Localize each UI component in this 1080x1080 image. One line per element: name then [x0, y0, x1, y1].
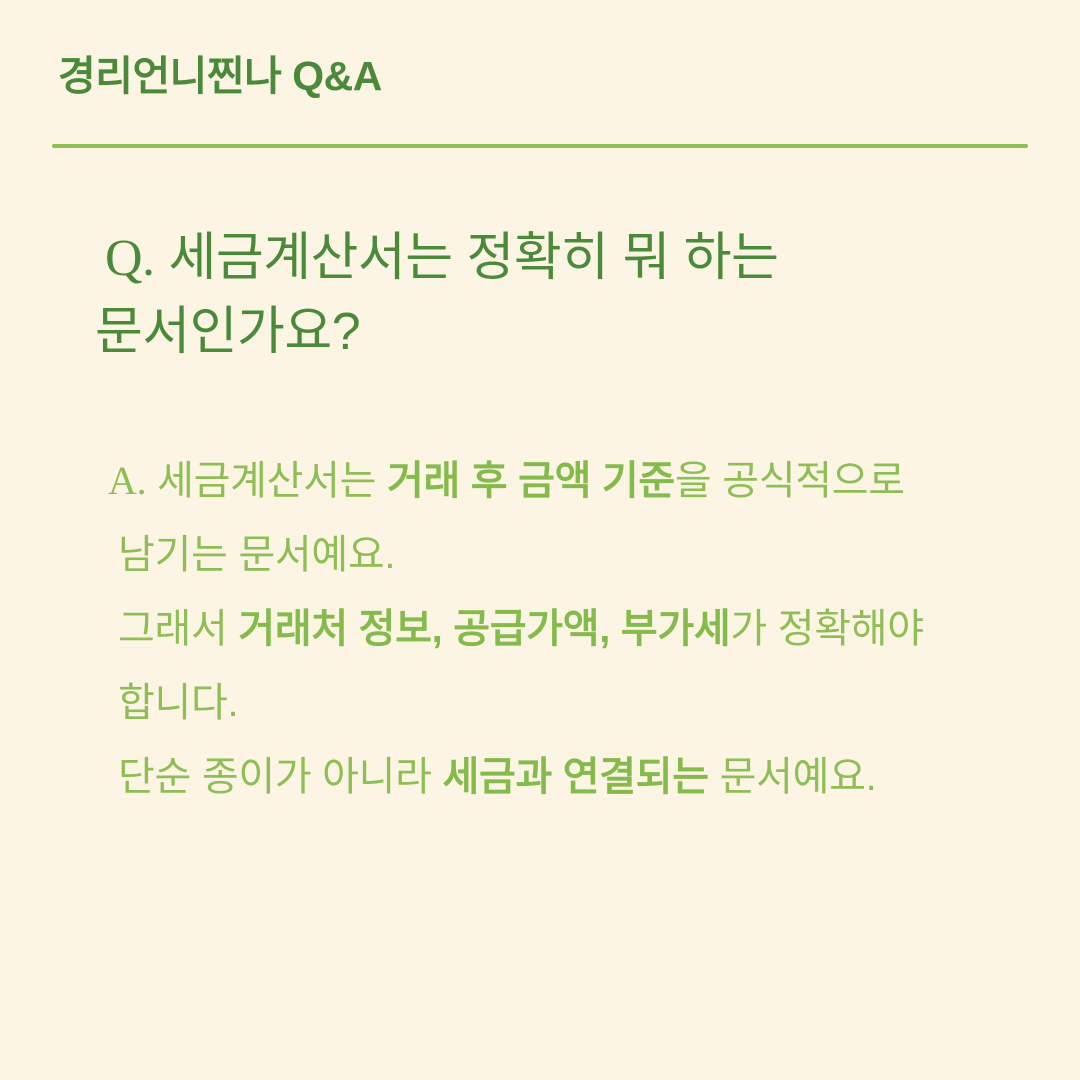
answer-block: A. 세금계산서는 거래 후 금액 기준을 공식적으로 남기는 문서예요. 그래…: [118, 444, 963, 814]
qa-card: 경리언니찐나 Q&A Q. 세금계산서는 정확히 뭐 하는 문서인가요? A. …: [0, 0, 1080, 1080]
answer-paragraph-1: A. 세금계산서는 거래 후 금액 기준을 공식적으로 남기는 문서예요.: [118, 444, 963, 592]
answer-p2-lead: 그래서: [118, 607, 238, 651]
answer-p3-lead: 단순 종이가 아니라: [118, 755, 442, 799]
question-body: 세금계산서는 정확히 뭐 하는 문서인가요?: [95, 229, 778, 361]
question-block: Q. 세금계산서는 정확히 뭐 하는 문서인가요?: [95, 222, 963, 370]
header-divider: [52, 144, 1028, 148]
answer-marker: A.: [108, 458, 146, 503]
answer-paragraph-3: 단순 종이가 아니라 세금과 연결되는 문서예요.: [118, 740, 963, 814]
brand-title: 경리언니찐나 Q&A: [58, 54, 382, 99]
answer-p1-lead: 세금계산서는: [157, 459, 387, 503]
answer-p1-emphasis: 거래 후 금액 기준: [387, 459, 675, 503]
answer-paragraph-2: 그래서 거래처 정보, 공급가액, 부가세가 정확해야 합니다.: [118, 592, 963, 740]
answer-p3-emphasis: 세금과 연결되는: [442, 755, 708, 799]
question-text: Q. 세금계산서는 정확히 뭐 하는 문서인가요?: [95, 222, 963, 370]
answer-p2-emphasis: 거래처 정보, 공급가액, 부가세: [238, 607, 730, 651]
question-marker: Q.: [105, 230, 155, 287]
answer-p3-tail: 문서예요.: [709, 755, 877, 799]
